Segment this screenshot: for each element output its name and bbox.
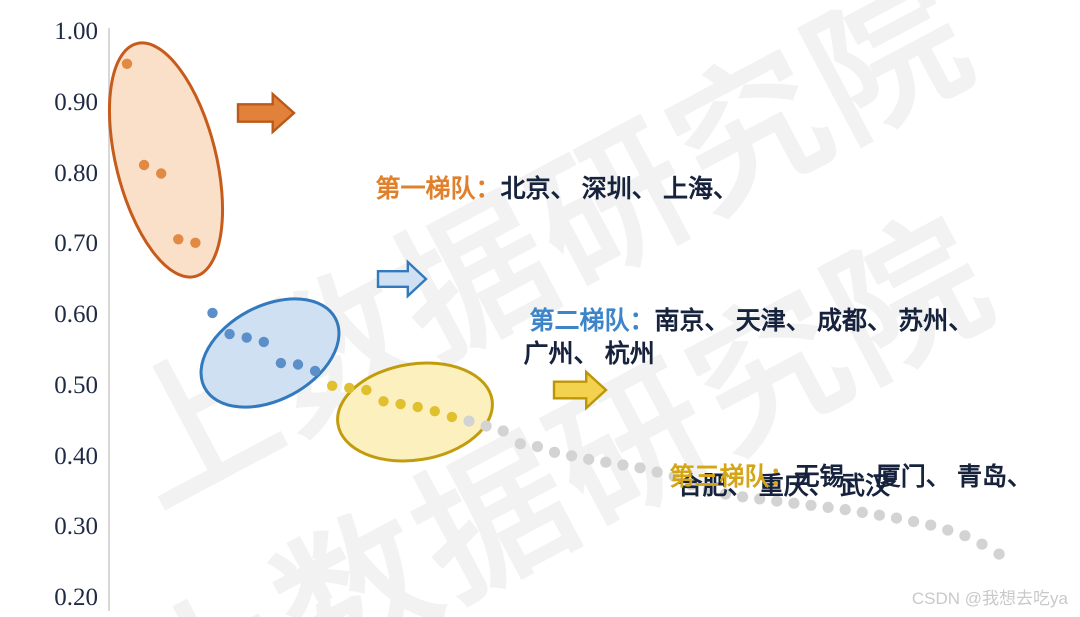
tier-3-annotation: 第三梯队：无锡、 厦门、 青岛、 西安、 珠海、 郑州、 福州、 济南 — [632, 362, 1055, 617]
csdn-credit: CSDN @我想去吃ya — [912, 584, 1068, 609]
chart-canvas: 上数据研究院 上数据研究院 1.000.900.800.700.600.500.… — [0, 0, 1080, 617]
tier-3-label: 第三梯队： — [670, 464, 795, 491]
cluster-ellipse — [88, 31, 243, 288]
data-point — [173, 234, 183, 244]
data-point — [276, 358, 286, 368]
tier-2-cities-line-1: 南京、 天津、 成都、 苏州、 — [655, 308, 974, 335]
data-point — [310, 366, 320, 376]
data-point — [207, 308, 217, 318]
data-point — [293, 359, 303, 369]
data-point — [139, 160, 149, 170]
tier-1-cities-line-1: 北京、 深圳、 上海、 — [501, 176, 739, 203]
tier-1-arrow — [238, 94, 294, 132]
tier-1-label: 第一梯队： — [376, 176, 501, 203]
data-point — [190, 238, 200, 248]
data-point — [242, 332, 252, 342]
data-point — [259, 337, 269, 347]
data-point — [156, 168, 166, 178]
data-point — [122, 59, 132, 69]
tier-2-label: 第二梯队： — [530, 308, 655, 335]
tier-3-cities-line-1: 无锡、 厦门、 青岛、 — [795, 464, 1033, 491]
data-point — [327, 381, 337, 391]
cluster-ellipse — [183, 277, 358, 429]
data-point — [224, 329, 234, 339]
